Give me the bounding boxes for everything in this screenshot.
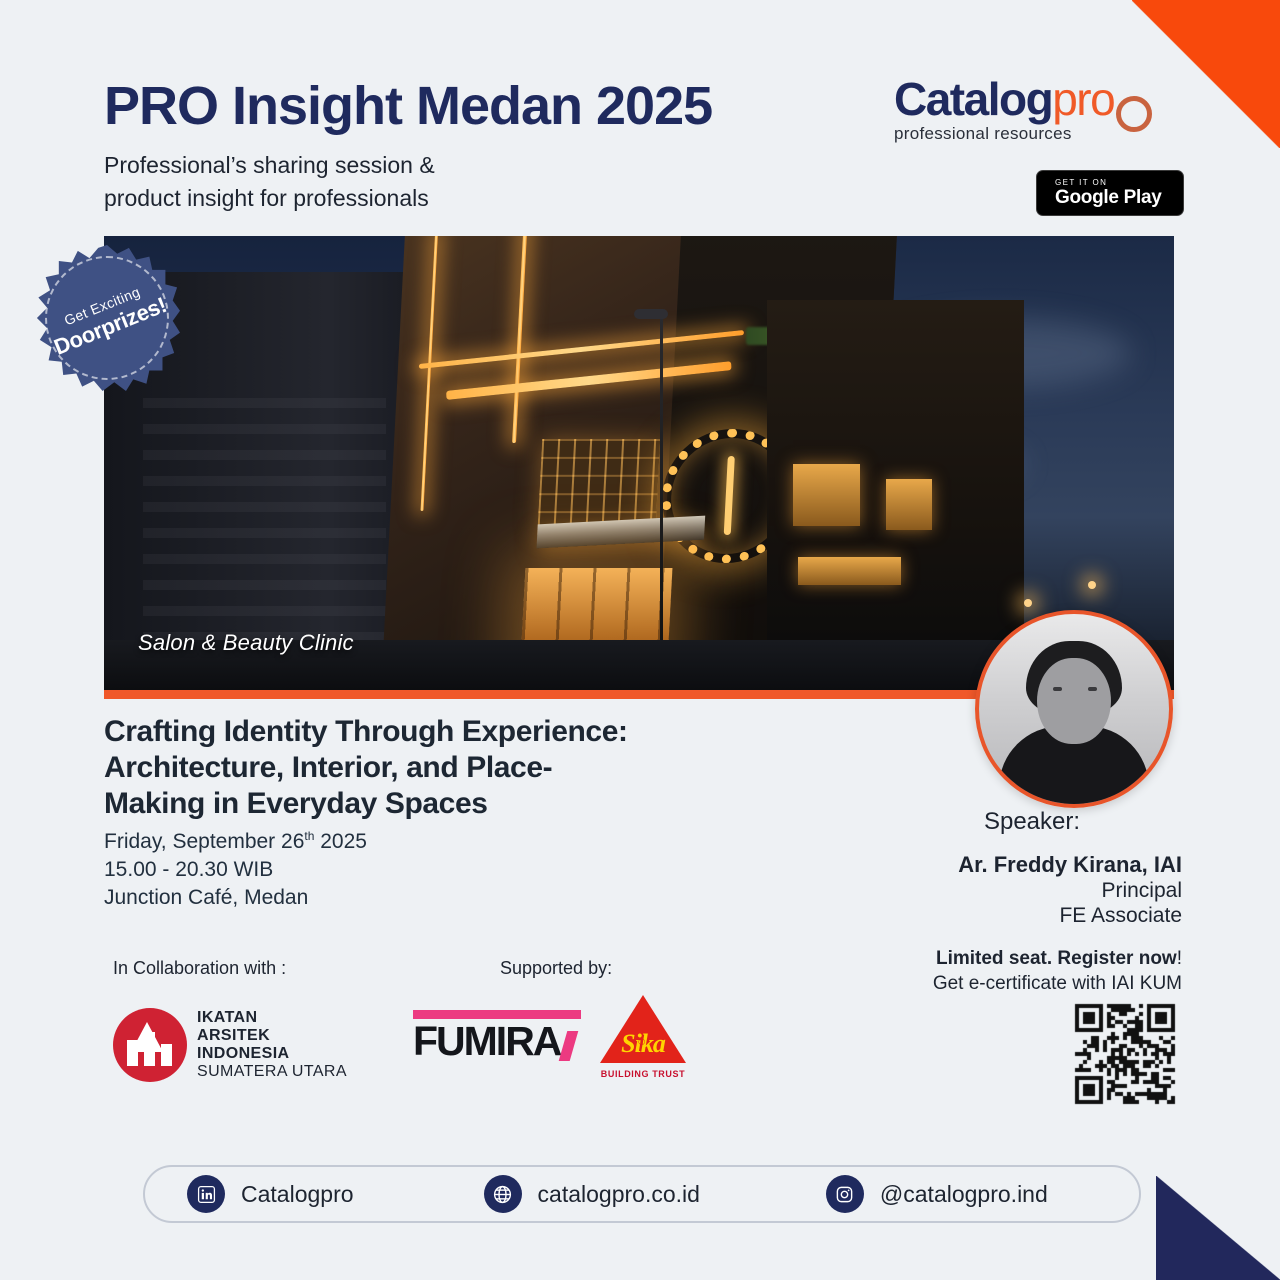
iai-bar — [144, 1032, 155, 1066]
page-title: PRO Insight Medan 2025 — [104, 78, 712, 135]
google-play-small-text: GET IT ON — [1055, 179, 1162, 187]
globe-icon — [484, 1175, 522, 1213]
iai-logo-mark — [113, 1008, 187, 1082]
registration-cta: Limited seat. Register now! Get e-certif… — [882, 948, 1182, 995]
window — [793, 464, 860, 526]
iai-line-4: SUMATERA UTARA — [197, 1063, 347, 1081]
brand-name-catalog: Catalog — [894, 73, 1052, 125]
fumira-name: FUMIRA — [413, 1023, 560, 1061]
brand-name-pro: pro — [1052, 73, 1114, 125]
event-date-ordinal: th — [304, 829, 314, 843]
fumira-slash-icon — [559, 1031, 579, 1061]
event-venue: Junction Café, Medan — [104, 884, 744, 912]
talk-title-line-2: Architecture, Interior, and Place- — [104, 750, 744, 786]
google-play-text: GET IT ON Google Play — [1055, 179, 1162, 207]
led-strip — [420, 236, 438, 511]
sika-registered-mark: ® — [638, 1037, 645, 1047]
subtitle-line-2: product insight for professionals — [104, 182, 712, 215]
photo-caption: Salon & Beauty Clinic — [138, 630, 354, 656]
avatar-eye — [1053, 687, 1062, 691]
linkedin-icon — [187, 1175, 225, 1213]
brand-logo: Catalogpro professional resources — [894, 76, 1184, 144]
iai-logo-text: IKATAN ARSITEK INDONESIA SUMATERA UTARA — [197, 1009, 347, 1081]
qr-canvas — [1057, 1002, 1192, 1106]
register-note: Get e-certificate with IAI KUM — [882, 973, 1182, 995]
hero-photo: Salon & Beauty Clinic — [104, 236, 1174, 690]
talk-title: Crafting Identity Through Experience: Ar… — [104, 714, 744, 822]
support-section: Supported by: — [500, 958, 612, 979]
footer-label-linkedin: Catalogpro — [241, 1181, 354, 1208]
footer-item-instagram[interactable]: @catalogpro.ind — [826, 1175, 1048, 1213]
collaboration-label: In Collaboration with : — [113, 958, 286, 979]
footer-label-website: catalogpro.co.id — [538, 1181, 700, 1208]
instagram-icon — [826, 1175, 864, 1213]
badge-text: Get Exciting Doorprizes! — [12, 223, 202, 413]
sika-tagline: BUILDING TRUST — [598, 1069, 688, 1079]
led-strip — [512, 236, 528, 444]
brand-wordmark: Catalogpro — [894, 76, 1184, 122]
event-poster: PRO Insight Medan 2025 Professional’s sh… — [0, 0, 1280, 1280]
fumira-logo: FUMIRA — [413, 1010, 588, 1061]
event-date-year: 2025 — [314, 830, 367, 853]
register-headline: Limited seat. Register now! — [882, 948, 1182, 970]
speaker-name: Ar. Freddy Kirana, IAI — [882, 852, 1182, 878]
social-footer-bar: Catalogpro catalogpro.co.id @catalogpro.… — [143, 1165, 1141, 1223]
speaker-avatar — [975, 610, 1173, 808]
window — [798, 557, 901, 584]
fumira-wordmark-row: FUMIRA — [413, 1023, 588, 1061]
event-date: Friday, September 26th 2025 — [104, 828, 744, 856]
iai-line-1: IKATAN — [197, 1009, 347, 1027]
window — [886, 479, 932, 530]
speaker-label: Speaker: — [882, 808, 1182, 836]
footer-label-instagram: @catalogpro.ind — [880, 1181, 1048, 1208]
subtitle-line-1: Professional’s sharing session & — [104, 149, 712, 182]
speaker-info: Speaker: Ar. Freddy Kirana, IAI Principa… — [882, 808, 1182, 928]
iai-bar — [161, 1044, 172, 1066]
sika-triangle-shape: Sika ® — [600, 995, 686, 1063]
building-right-wing — [767, 300, 1024, 690]
iai-bar — [127, 1040, 138, 1066]
doorprize-badge: Get Exciting Doorprizes! — [34, 245, 180, 391]
google-play-big-text: Google Play — [1055, 188, 1162, 207]
event-time: 15.00 - 20.30 WIB — [104, 856, 744, 884]
avatar-eye — [1088, 687, 1097, 691]
iai-line-3: INDONESIA — [197, 1045, 347, 1063]
footer-item-linkedin[interactable]: Catalogpro — [187, 1175, 354, 1213]
talk-title-line-1: Crafting Identity Through Experience: — [104, 714, 744, 750]
google-play-badge[interactable]: GET IT ON Google Play — [1036, 170, 1184, 216]
brand-tagline: professional resources — [894, 124, 1184, 144]
support-label: Supported by: — [500, 958, 612, 979]
collaboration-section: In Collaboration with : — [113, 958, 286, 979]
poster-header: PRO Insight Medan 2025 Professional’s sh… — [104, 78, 712, 215]
footer-item-website[interactable]: catalogpro.co.id — [484, 1175, 700, 1213]
event-date-prefix: Friday, September 26 — [104, 830, 304, 853]
talk-title-line-3: Making in Everyday Spaces — [104, 786, 744, 822]
street-lamp-head — [634, 309, 668, 319]
speaker-role-line-2: FE Associate — [882, 903, 1182, 928]
register-bold-text: Limited seat. Register now — [936, 948, 1177, 969]
sika-logo: Sika ® BUILDING TRUST — [598, 995, 688, 1079]
register-exclaim: ! — [1177, 948, 1182, 969]
registration-qr-code[interactable] — [1057, 1002, 1192, 1106]
talk-details: Crafting Identity Through Experience: Ar… — [104, 714, 744, 912]
speaker-role-line-1: Principal — [882, 878, 1182, 903]
talk-meta: Friday, September 26th 2025 15.00 - 20.3… — [104, 828, 744, 912]
page-subtitle: Professional’s sharing session & product… — [104, 149, 712, 216]
iai-logo: IKATAN ARSITEK INDONESIA SUMATERA UTARA — [113, 1008, 347, 1082]
avatar-face — [1037, 658, 1111, 744]
iai-line-2: ARSITEK — [197, 1027, 347, 1045]
corner-triangle-bottom-right-icon — [1156, 1176, 1280, 1280]
street-lamp-post — [660, 313, 663, 658]
